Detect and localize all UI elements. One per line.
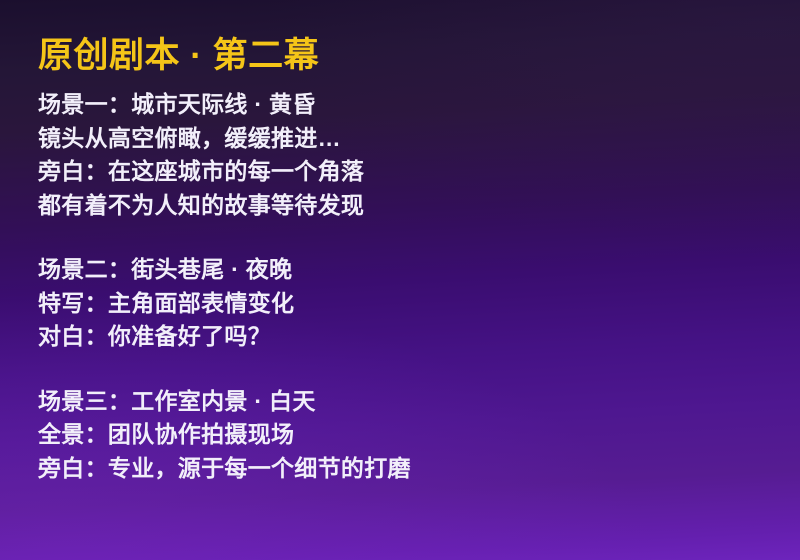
scene-block: 场景二：街头巷尾 · 夜晚特写：主角面部表情变化对白：你准备好了吗？: [38, 253, 411, 354]
script-line: 都有着不为人知的故事等待发现: [38, 189, 411, 223]
scene-block: 场景一：城市天际线 · 黄昏镜头从高空俯瞰，缓缓推进…旁白：在这座城市的每一个角…: [38, 88, 411, 222]
script-line: 镜头从高空俯瞰，缓缓推进…: [38, 122, 411, 156]
scene-heading-line: 场景一：城市天际线 · 黄昏: [38, 88, 411, 122]
script-line: 特写：主角面部表情变化: [38, 287, 411, 321]
scene-heading-line: 场景二：街头巷尾 · 夜晚: [38, 253, 411, 287]
scene-block: 场景三：工作室内景 · 白天全景：团队协作拍摄现场旁白：专业，源于每一个细节的打…: [38, 385, 411, 486]
script-line: 对白：你准备好了吗？: [38, 320, 411, 354]
script-line: 旁白：在这座城市的每一个角落: [38, 155, 411, 189]
scene-heading-line: 场景三：工作室内景 · 白天: [38, 385, 411, 419]
script-line: 全景：团队协作拍摄现场: [38, 418, 411, 452]
page-title: 原创剧本 · 第二幕: [38, 34, 319, 78]
scene-list: 场景一：城市天际线 · 黄昏镜头从高空俯瞰，缓缓推进…旁白：在这座城市的每一个角…: [38, 88, 411, 485]
script-poster: 原创剧本 · 第二幕 场景一：城市天际线 · 黄昏镜头从高空俯瞰，缓缓推进…旁白…: [0, 0, 800, 560]
script-line: 旁白：专业，源于每一个细节的打磨: [38, 452, 411, 486]
